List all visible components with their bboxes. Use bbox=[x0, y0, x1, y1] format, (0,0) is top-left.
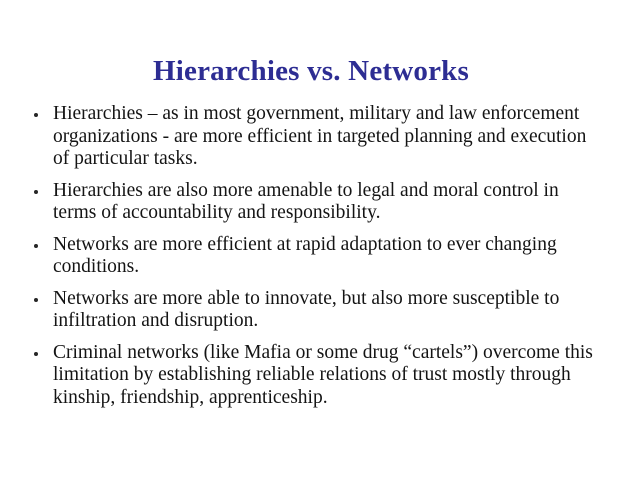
bullet-dot-icon bbox=[34, 113, 38, 117]
list-item-label: Hierarchies are also more amenable to le… bbox=[53, 180, 602, 225]
list-item-label: Networks are more efficient at rapid ada… bbox=[53, 234, 602, 279]
list-item: Networks are more efficient at rapid ada… bbox=[30, 234, 602, 279]
list-item: Criminal networks (like Mafia or some dr… bbox=[30, 342, 602, 410]
page-title: Hierarchies vs. Networks bbox=[0, 54, 622, 88]
presentation-slide: Hierarchies vs. Networks Hierarchies – a… bbox=[0, 0, 622, 480]
list-item-label: Hierarchies – as in most government, mil… bbox=[53, 103, 602, 171]
list-item: Networks are more able to innovate, but … bbox=[30, 288, 602, 333]
list-item-label: Networks are more able to innovate, but … bbox=[53, 288, 602, 333]
bullet-dot-icon bbox=[34, 352, 38, 356]
bullet-dot-icon bbox=[34, 190, 38, 194]
bullet-dot-icon bbox=[34, 244, 38, 248]
bullet-list: Hierarchies – as in most government, mil… bbox=[30, 103, 602, 409]
bullet-dot-icon bbox=[34, 298, 38, 302]
list-item: Hierarchies – as in most government, mil… bbox=[30, 103, 602, 171]
list-item: Hierarchies are also more amenable to le… bbox=[30, 180, 602, 225]
list-item-label: Criminal networks (like Mafia or some dr… bbox=[53, 342, 602, 410]
